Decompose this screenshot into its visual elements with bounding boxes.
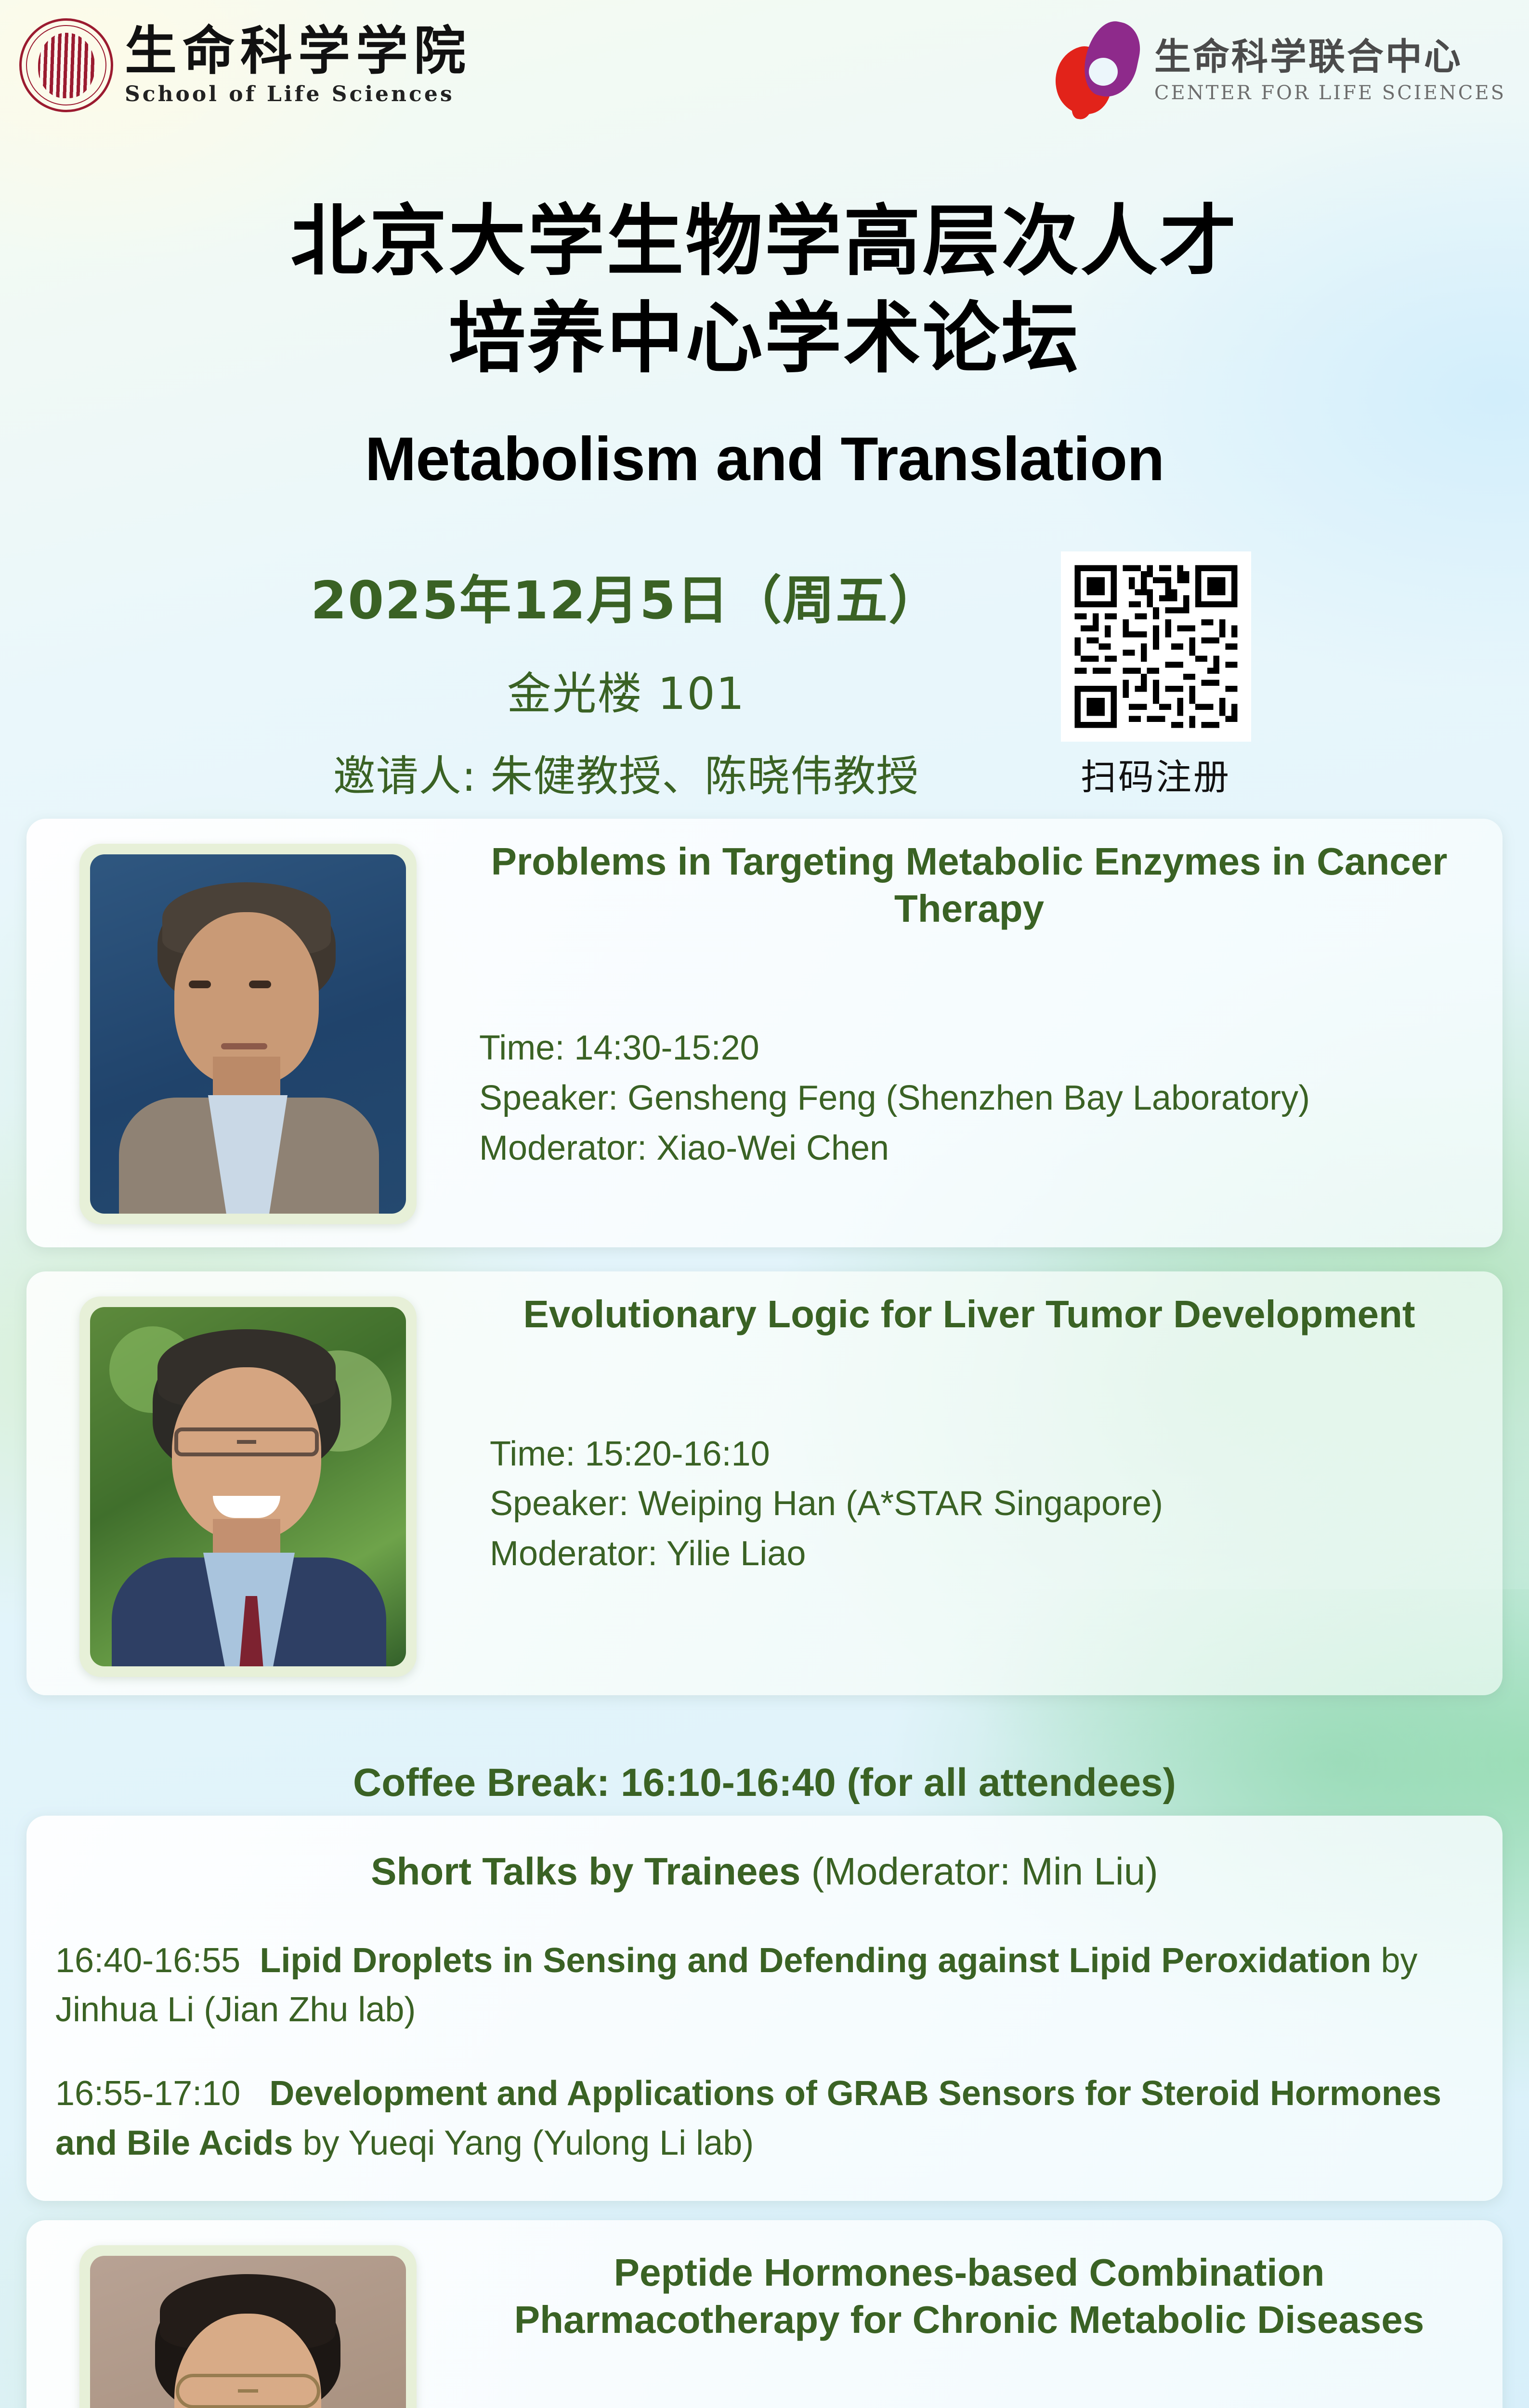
cls-logo-en-text: CENTER FOR LIFE SCIENCES <box>1154 82 1506 104</box>
poster-title-chinese: 北京大学生物学高层次人才 培养中心学术论坛 <box>0 193 1529 387</box>
pku-logo-en-text: School of Life Sciences <box>125 82 471 106</box>
qr-caption: 扫码注册 <box>1052 748 1259 800</box>
session-1-title: Problems in Targeting Metabolic Enzymes … <box>479 838 1459 932</box>
session-1-speaker: Speaker: Gensheng Feng (Shenzhen Bay Lab… <box>479 1073 1459 1124</box>
event-meta-block: 2025年12月5日（周五） 金光楼 101 邀请人: 朱健教授、陈晓伟教授 <box>202 559 1050 803</box>
registration-qr-block[interactable]: 扫码注册 <box>1052 551 1259 800</box>
coffee-break-banner: Coffee Break: 16:10-16:40 (for all atten… <box>0 1760 1529 1806</box>
qr-code-icon[interactable] <box>1061 551 1251 742</box>
pku-school-of-life-sciences-logo: 生命科学学院 School of Life Sciences <box>19 18 471 112</box>
portrait-aimin-xu <box>90 2256 406 2408</box>
poster-title-cn-line1: 北京大学生物学高层次人才 <box>0 193 1529 290</box>
short-talk-1-time: 16:40-16:55 <box>55 1941 240 1980</box>
short-talk-2-by: by Yueqi Yang (Yulong Li lab) <box>302 2124 754 2162</box>
short-talks-heading: Short Talks by Trainees (Moderator: Min … <box>55 1849 1474 1894</box>
session-card-1[interactable]: Problems in Targeting Metabolic Enzymes … <box>26 819 1503 1247</box>
session-card-2[interactable]: Evolutionary Logic for Liver Tumor Devel… <box>26 1271 1503 1695</box>
poster-title-english: Metabolism and Translation <box>0 424 1529 495</box>
event-host: 邀请人: 朱健教授、陈晓伟教授 <box>202 742 1050 803</box>
short-talks-heading-bold: Short Talks by Trainees <box>371 1850 800 1893</box>
pku-logo-cn-text: 生命科学学院 <box>125 24 471 79</box>
portrait-gensheng-feng <box>90 854 406 1214</box>
pku-seal-icon <box>19 18 113 112</box>
cls-emblem-icon <box>1050 17 1147 114</box>
poster-root: 生命科学学院 School of Life Sciences 生命科学联合中心 … <box>0 0 1529 2408</box>
session-3-title: Peptide Hormones-based Combination Pharm… <box>479 2249 1459 2343</box>
center-for-life-sciences-logo: 生命科学联合中心 CENTER FOR LIFE SCIENCES <box>1050 17 1506 114</box>
session-2-time: Time: 15:20-16:10 <box>490 1429 1459 1479</box>
short-talk-1-title: Lipid Droplets in Sensing and Defending … <box>260 1941 1371 1980</box>
short-talk-item-2: 16:55-17:10 Development and Applications… <box>55 2069 1474 2167</box>
session-2-title: Evolutionary Logic for Liver Tumor Devel… <box>479 1291 1459 1338</box>
poster-title-cn-line2: 培养中心学术论坛 <box>0 290 1529 387</box>
session-card-3[interactable]: Peptide Hormones-based Combination Pharm… <box>26 2220 1503 2408</box>
session-2-moderator: Moderator: Yilie Liao <box>490 1529 1459 1579</box>
cls-logo-cn-text: 生命科学联合中心 <box>1154 27 1506 80</box>
short-talks-card[interactable]: Short Talks by Trainees (Moderator: Min … <box>26 1816 1503 2201</box>
short-talk-item-1: 16:40-16:55 Lipid Droplets in Sensing an… <box>55 1936 1474 2034</box>
short-talks-heading-rest: (Moderator: Min Liu) <box>800 1850 1158 1893</box>
portrait-weiping-han <box>90 1307 406 1666</box>
event-date: 2025年12月5日（周五） <box>202 559 1050 634</box>
speaker-photo-frame-1 <box>79 844 417 1224</box>
short-talk-2-time: 16:55-17:10 <box>55 2074 240 2113</box>
speaker-photo-frame-2 <box>79 1296 417 1677</box>
session-2-speaker: Speaker: Weiping Han (A*STAR Singapore) <box>490 1479 1459 1529</box>
event-venue: 金光楼 101 <box>202 658 1050 722</box>
speaker-photo-frame-3 <box>79 2245 417 2408</box>
session-1-time: Time: 14:30-15:20 <box>479 1023 1459 1073</box>
session-1-moderator: Moderator: Xiao-Wei Chen <box>479 1124 1459 1174</box>
